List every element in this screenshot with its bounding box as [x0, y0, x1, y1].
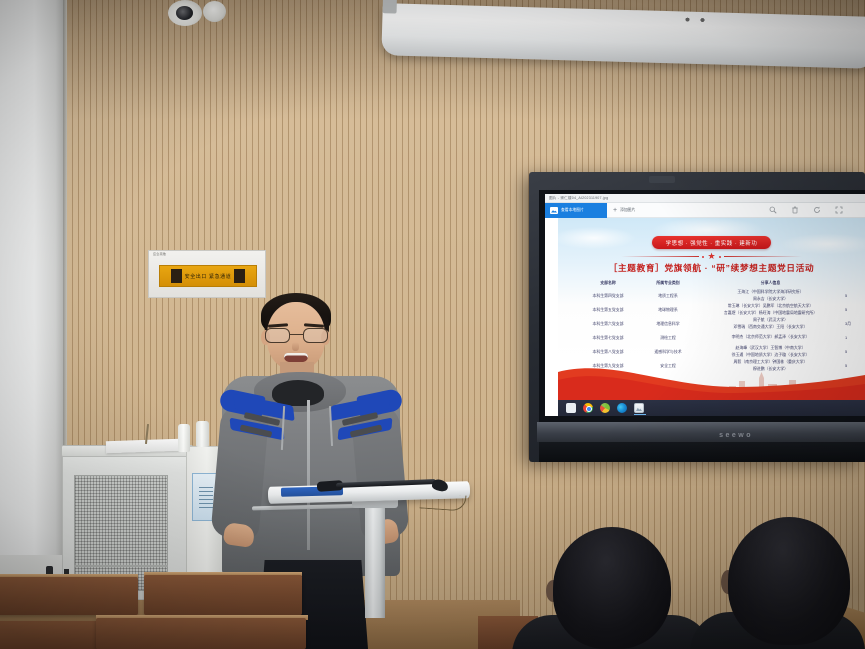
white-pillar	[0, 0, 63, 600]
cell-count: 1	[845, 335, 863, 340]
divider-dot	[719, 256, 721, 258]
divider-line-right	[724, 256, 802, 257]
lens-right	[303, 328, 328, 343]
photo-viewer-icon[interactable]	[634, 403, 644, 413]
display-screen[interactable]: 图片 - 崇仁楼04_AI202311907.jpg 查看本地图片 + 添加图片	[545, 194, 865, 416]
rack-shelf-divider	[74, 565, 168, 567]
rotate-icon[interactable]	[813, 206, 821, 214]
window-title: 图片 - 崇仁楼04_AI202311907.jpg	[549, 196, 608, 201]
classroom-photo-scene: 应急疏散 安全出口 紧急通道 图片 - 崇仁楼04_AI202311907.jp…	[0, 0, 865, 649]
slide-title: ［主题教育］党旗领航 · “研”续梦想主题党日活动	[558, 262, 865, 274]
sign-right-block	[234, 269, 245, 283]
360-browser-icon[interactable]	[600, 403, 610, 413]
fullscreen-icon[interactable]	[835, 206, 843, 214]
table-row: 本科生第七党支部 测绘工程 李明杰（北京师范大学）郝孟泽（长安大学） 1	[576, 331, 863, 345]
cell-count: 3月	[845, 321, 863, 327]
display-camera-strip	[649, 176, 675, 183]
add-image-label: 添加图片	[620, 208, 635, 213]
slide-content: 学思想 · 强党性 · 重实践 · 建新功 ★ ［主题教育］党旗领航 · “研”…	[558, 218, 865, 416]
cell-sharers: 周子航（武汉大学） 邓雪瑞（西南交通大学）王阳（长安大学）	[696, 317, 845, 329]
th-count	[845, 280, 863, 286]
cell-count: 5	[845, 293, 863, 298]
banner-wrap: 学思想 · 强党性 · 重实践 · 建新功	[558, 236, 865, 249]
bench-desk	[0, 621, 104, 649]
sign-left-block	[171, 269, 182, 283]
th-major: 所属专业类别	[640, 280, 696, 286]
table-row: 本科生第六党支部 地理信息科学 周子航（武汉大学） 邓雪瑞（西南交通大学）王阳（…	[576, 317, 863, 331]
cell-major: 测绘工程	[640, 335, 696, 341]
cell-branch: 本科生第六党支部	[576, 321, 640, 327]
sharer-line: 周永吉（长安大学）	[696, 296, 845, 302]
table-row: 本科生第四党支部 地质工程系 王海江（中国科学院大学海洋研究所） 周永吉（长安大…	[576, 289, 863, 303]
interactive-display-panel[interactable]: 图片 - 崇仁楼04_AI202311907.jpg 查看本地图片 + 添加图片	[529, 172, 865, 462]
tab-local-image[interactable]: 查看本地图片	[545, 203, 607, 218]
cell-branch: 本科生第八党支部	[576, 349, 640, 355]
audience-member-left	[553, 527, 671, 649]
display-brand-label: seewo	[719, 432, 753, 439]
th-sharers: 分享人信息	[696, 280, 845, 286]
star-icon: ★	[707, 252, 715, 261]
sharer-line: 言嘉煜（长安大学）杨旺涛（中国地震局地震研究所）	[696, 310, 845, 316]
sharer-line: 李明杰（北京师范大学）郝孟泽（长安大学）	[696, 334, 845, 340]
browser-window[interactable]: 图片 - 崇仁楼04_AI202311907.jpg 查看本地图片 + 添加图片	[545, 194, 865, 416]
display-bottom-bar	[537, 422, 865, 442]
add-image-button[interactable]: + 添加图片	[607, 207, 641, 214]
emergency-exit-sign: 安全出口 紧急通道	[159, 265, 257, 287]
th-branch: 支部名称	[576, 280, 640, 286]
mouth	[284, 353, 308, 362]
tab-label: 查看本地图片	[561, 208, 584, 213]
cell-major: 地理信息科学	[640, 321, 696, 327]
housing-screws	[682, 18, 712, 24]
table-header-row: 支部名称 所属专业类别 分享人信息	[576, 280, 863, 289]
bench-desk	[96, 618, 306, 649]
display-foot	[539, 442, 865, 462]
cell-branch: 本科生第七党支部	[576, 335, 640, 341]
plaque-label: 安全出口 紧急通道	[185, 273, 232, 280]
edge-icon[interactable]	[617, 403, 627, 413]
active-app-indicator	[634, 414, 646, 416]
slide-banner: 学思想 · 强党性 · 重实践 · 建新功	[652, 236, 772, 249]
inner-shirt-collar	[272, 380, 324, 406]
water-bottle	[178, 424, 190, 452]
cell-sharers: 赵海峰（武汉大学）王智博（中南大学） 徐玉通（中国地质大学）边子璇（长安大学）	[696, 345, 845, 357]
sharer-line: 徐玉通（中国地质大学）边子璇（长安大学）	[696, 352, 845, 358]
red-wave-graphic	[558, 362, 865, 404]
cell-major: 地质工程系	[640, 293, 696, 299]
cell-sharers: 常玉琳（长安大学）吴鹏军（北京航空航天大学） 言嘉煜（长安大学）杨旺涛（中国地震…	[696, 303, 845, 315]
cell-sharers: 李明杰（北京师范大学）郝孟泽（长安大学）	[696, 334, 845, 340]
bench-backrest	[144, 575, 302, 615]
cell-count: 5	[845, 307, 863, 312]
nose	[292, 342, 299, 351]
lectern-column	[365, 498, 385, 618]
zipper	[307, 400, 310, 550]
bench-backrest	[0, 577, 138, 615]
start-button[interactable]	[566, 403, 576, 413]
toolbar-icon-group[interactable]	[769, 206, 865, 214]
search-icon[interactable]	[769, 206, 777, 214]
plus-icon: +	[613, 207, 617, 214]
lens-left	[265, 328, 290, 343]
slide-table: 支部名称 所属专业类别 分享人信息 本科生第四党支部 地质工程系 王海江（中国科…	[576, 280, 863, 373]
table-row: 本科生第八党支部 遥感科学与技术 赵海峰（武汉大学）王智博（中南大学） 徐玉通（…	[576, 345, 863, 359]
chrome-icon[interactable]	[583, 403, 593, 413]
cell-sharers: 王海江（中国科学院大学海洋研究所） 周永吉（长安大学）	[696, 289, 845, 301]
image-icon	[550, 207, 558, 214]
cell-major: 地球物理系	[640, 307, 696, 313]
papers-on-cabinet	[106, 439, 180, 454]
audience-member-right	[728, 517, 850, 645]
glasses-icon	[265, 328, 328, 343]
dome-camera-icon	[168, 0, 202, 26]
table-row: 本科生第五党支部 地球物理系 常玉琳（长安大学）吴鹏军（北京航空航天大学） 言嘉…	[576, 303, 863, 317]
delete-icon[interactable]	[791, 206, 799, 214]
ceiling-speaker-icon	[203, 1, 226, 22]
sharer-line: 邓雪瑞（西南交通大学）王阳（长安大学）	[696, 324, 845, 330]
cell-branch: 本科生第四党支部	[576, 293, 640, 299]
cell-major: 遥感科学与技术	[640, 349, 696, 355]
cable	[419, 492, 466, 511]
plaque-top-text: 应急疏散	[153, 252, 166, 256]
divider-line-left	[621, 256, 699, 257]
browser-toolbar[interactable]: 查看本地图片 + 添加图片	[545, 203, 865, 218]
cell-count: 5	[845, 349, 863, 354]
water-bottle	[196, 421, 209, 447]
cell-branch: 本科生第五党支部	[576, 307, 640, 313]
star-divider: ★	[558, 252, 865, 261]
divider-dot	[702, 256, 704, 258]
glasses-bridge	[290, 334, 303, 335]
windows-taskbar[interactable]	[558, 400, 865, 416]
